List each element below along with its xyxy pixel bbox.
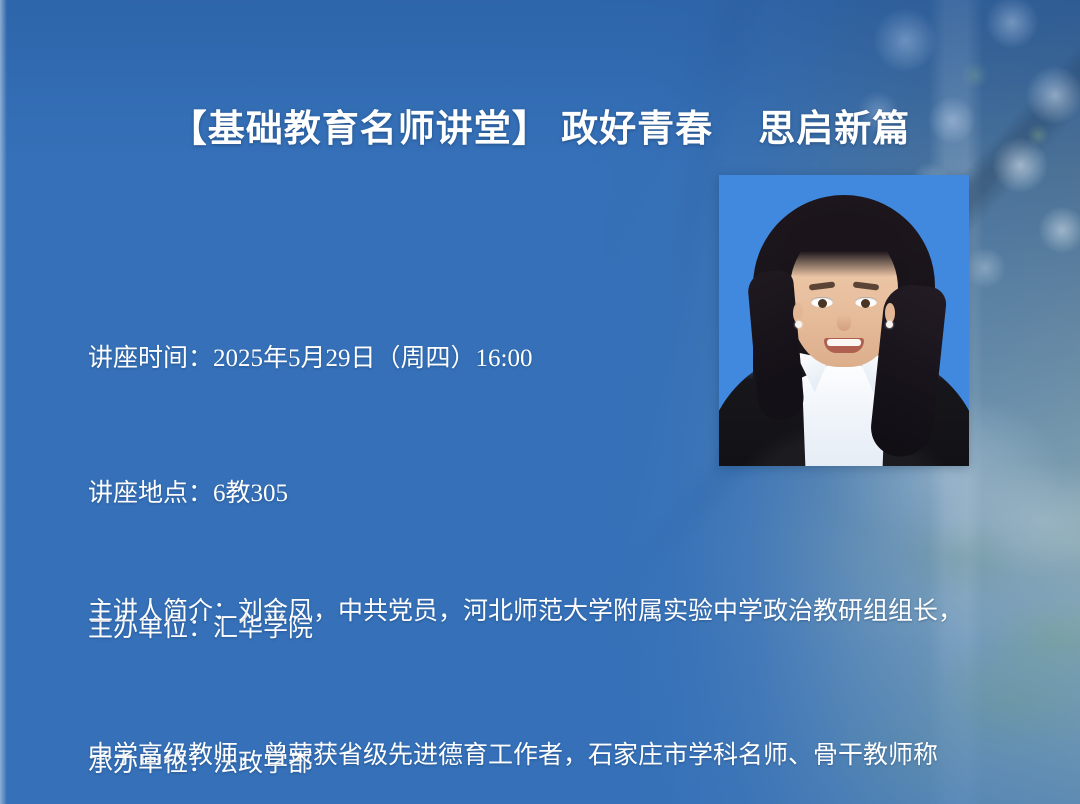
portrait-ear-left	[793, 303, 803, 323]
portrait-earring-left	[795, 321, 802, 328]
biography-line: 中学高级教师，曾荣获省级先进德育工作者，石家庄市学科名师、骨干教师称	[88, 732, 993, 780]
portrait-ear-right	[885, 303, 895, 323]
portrait-hair-fringe	[781, 215, 907, 277]
page-title: 【基础教育名师讲堂】 政好青春 思启新篇	[0, 98, 1080, 152]
speaker-portrait-photo	[719, 175, 969, 466]
portrait-pupil-left	[818, 299, 827, 308]
speaker-biography: 主讲人简介：刘金凤，中共党员，河北师范大学附属实验中学政治教研组组长， 中学高级…	[88, 492, 993, 804]
portrait-teeth	[827, 339, 861, 346]
portrait-pupil-right	[861, 299, 870, 308]
biography-line: 主讲人简介：刘金凤，中共党员，河北师范大学附属实验中学政治教研组组长，	[88, 588, 993, 636]
info-row-time: 讲座时间：2025年5月29日（周四）16:00	[88, 336, 532, 381]
portrait-mouth	[824, 338, 864, 353]
lecture-poster: 【基础教育名师讲堂】 政好青春 思启新篇 讲座时间：2025年5月29日（周四）…	[0, 0, 1080, 804]
portrait-earring-right	[886, 321, 893, 328]
portrait-nose	[837, 315, 851, 331]
